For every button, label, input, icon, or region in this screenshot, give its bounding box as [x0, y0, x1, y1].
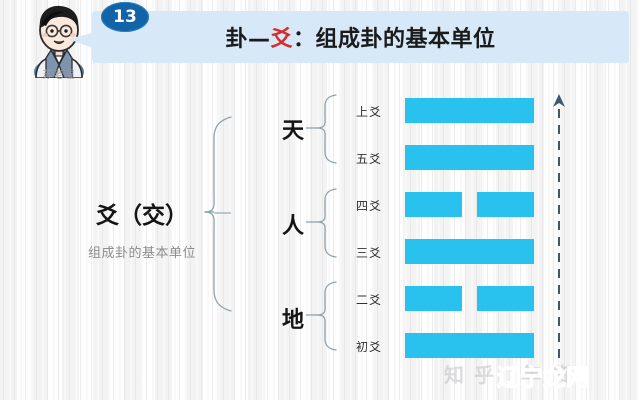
yao-label-5: 初爻: [356, 338, 398, 355]
title-suffix: ：组成卦的基本单位: [293, 21, 496, 53]
group-label-earth: 地: [268, 302, 318, 334]
root-node-sublabel: 组成卦的基本单位: [62, 242, 222, 261]
watermark-primary-red: 辽宁: [497, 365, 543, 391]
hexagram-line-3: [405, 239, 534, 264]
bar-segment: [477, 286, 534, 311]
group-brace-1-upper: [317, 189, 336, 222]
bar-segment: [405, 239, 534, 264]
slide-canvas: 苏老湿 卦—爻：组成卦的基本单位 13 爻（交） 组成卦的基本单位 天 人 地 …: [0, 0, 640, 400]
title-prefix: 卦—: [225, 21, 270, 53]
hexagram-line-1: [405, 145, 534, 170]
yao-label-1: 五爻: [356, 150, 398, 167]
bar-segment: [405, 98, 534, 123]
slide-number-badge: 13: [101, 2, 149, 32]
title-accent: 爻: [270, 21, 293, 53]
group-brace-2-lower: [317, 315, 336, 350]
bar-segment: [405, 192, 462, 217]
group-brace-2-upper: [317, 282, 336, 315]
hexagram-line-5: [405, 333, 534, 358]
hexagram-line-0: [405, 98, 534, 123]
bar-segment: [405, 333, 534, 358]
hexagram-line-2: [405, 192, 534, 217]
group-brace-0-lower: [317, 128, 336, 163]
watermark-primary-gray: 龙网: [543, 365, 589, 391]
avatar-name: 苏老湿: [26, 66, 92, 81]
bar-segment: [477, 192, 534, 217]
bar-segment: [405, 286, 462, 311]
group-label-heaven: 天: [268, 113, 318, 145]
yao-label-3: 三爻: [356, 244, 398, 261]
root-node-label: 爻（交）: [72, 196, 212, 230]
yao-label-0: 上爻: [356, 103, 398, 120]
watermark-primary: 辽宁龙网: [497, 358, 589, 392]
group-brace-1-lower: [317, 222, 336, 257]
hexagram-line-4: [405, 286, 534, 311]
yao-label-4: 二爻: [356, 291, 398, 308]
page-title: 卦—爻：组成卦的基本单位: [92, 11, 629, 63]
bar-segment: [405, 145, 534, 170]
arrow-head: [553, 94, 565, 107]
upward-arrow-icon: [548, 92, 570, 358]
yao-label-2: 四爻: [356, 197, 398, 214]
group-brace-0-upper: [317, 95, 336, 128]
group-label-human: 人: [268, 208, 318, 240]
